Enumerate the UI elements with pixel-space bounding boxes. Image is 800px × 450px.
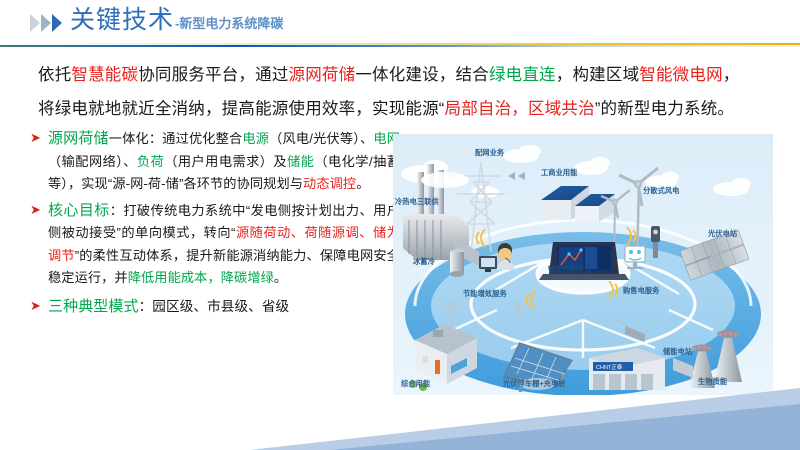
bullet-body-0-1: 电源 xyxy=(242,131,269,146)
title-main-text: 关键技术 xyxy=(70,8,174,33)
diagram-label-cchp: 冷热电三联供 xyxy=(395,197,439,207)
diagram-label-carport: 光伏停车棚+充电桩 xyxy=(503,379,566,389)
slide-header: 关键技术 -新型电力系统降碳 xyxy=(0,0,800,48)
arrow-bullet-icon: ➤ xyxy=(30,131,41,144)
arrow-bullet-icon: ➤ xyxy=(30,299,41,312)
bullet-body-0-6: （用户用电需求）及 xyxy=(164,154,287,169)
arrow-bullet-icon: ➤ xyxy=(30,203,41,216)
lead-paragraph: 依托智慧能碳协同服务平台，通过源网荷储一体化建设，结合绿电直连，构建区域智能微电… xyxy=(38,58,774,126)
bullet-heading: 源网荷储 xyxy=(48,130,109,147)
diagram-label-integrated: 综合用能 xyxy=(401,379,430,389)
bullet-heading: 核心目标 xyxy=(48,202,110,219)
bullet-body-0-0: 一体化：通过优化整合 xyxy=(109,131,243,146)
header-divider xyxy=(0,43,800,47)
diagram-label-commercial: 工商业用能 xyxy=(541,168,577,178)
bullet-body-0-2: （风电/光伏等）、 xyxy=(269,131,373,146)
diagram-label-platform: 智能控制平台 xyxy=(548,265,592,275)
highlight-green-direct: 绿电直连 xyxy=(489,66,556,84)
page-title: 关键技术 -新型电力系统降碳 xyxy=(70,8,283,33)
ice-storage-icon xyxy=(450,249,464,277)
energy-system-diagram: CHNT正泰 xyxy=(393,134,773,395)
bullet-text: 源网荷储一体化：通过优化整合电源（风电/光伏等）、电网（输配网络）、负荷（用户用… xyxy=(48,128,400,196)
double-chevron-right-icon xyxy=(30,14,62,32)
diagram-label-wind: 分散式风电 xyxy=(643,186,679,196)
highlight-source-grid-load-storage: 源网荷储 xyxy=(289,66,356,84)
highlight-smart-carbon: 智慧能碳 xyxy=(71,66,138,84)
diagram-label-trading: 购售电服务 xyxy=(623,286,659,296)
bullet-body-2-0: ：园区级、市县级、省级 xyxy=(139,299,290,314)
bullet-text: 核心目标：打破传统电力系统中“发电侧按计划出力、用户侧被动接受”的单向模式，转向… xyxy=(48,200,400,290)
diagram-label-pv-station: 光伏电站 xyxy=(708,229,737,239)
diagram-label-storage: 储能电站 xyxy=(663,347,692,357)
bullet-body-0-5: 负荷 xyxy=(137,154,164,169)
diagram-label-distribution: 配网业务 xyxy=(475,148,504,158)
bullet-body-0-7: 储能 xyxy=(287,154,314,169)
title-subtitle-text: -新型电力系统降碳 xyxy=(175,17,283,30)
diagram-label-efficiency: 节能增效服务 xyxy=(463,289,507,299)
highlight-smart-microgrid: 智能微电网 xyxy=(639,66,723,84)
svg-text:CHNT正泰: CHNT正泰 xyxy=(596,363,623,371)
bullet-body-0-10: 。 xyxy=(356,176,369,191)
highlight-local-autonomy: 局部自治，区域共治 xyxy=(445,100,595,118)
bullet-body-0-4: （输配网络）、 xyxy=(48,154,137,169)
slide-root: 关键技术 -新型电力系统降碳 依托智慧能碳协同服务平台，通过源网荷储一体化建设，… xyxy=(0,0,800,450)
list-item: ➤ 核心目标：打破传统电力系统中“发电侧按计划出力、用户侧被动接受”的单向模式，… xyxy=(30,200,400,290)
diagram-label-biomass: 生物质能 xyxy=(698,377,727,387)
diagram-label-ice-storage: 冰蓄冷 xyxy=(413,257,435,267)
bullet-heading: 三种典型模式 xyxy=(48,298,139,315)
list-item: ➤ 三种典型模式：园区级、市县级、省级 xyxy=(30,296,400,319)
bullet-body-1-3: 降低用能成本，降碳增绿 xyxy=(128,270,274,285)
bullet-text: 三种典型模式：园区级、市县级、省级 xyxy=(48,296,400,319)
bullet-body-0-9: 动态调控 xyxy=(303,176,356,191)
bullet-list: ➤ 源网荷储一体化：通过优化整合电源（风电/光伏等）、电网（输配网络）、负荷（用… xyxy=(30,128,400,322)
bullet-body-1-4: 。 xyxy=(274,270,287,285)
list-item: ➤ 源网荷储一体化：通过优化整合电源（风电/光伏等）、电网（输配网络）、负荷（用… xyxy=(30,128,400,196)
